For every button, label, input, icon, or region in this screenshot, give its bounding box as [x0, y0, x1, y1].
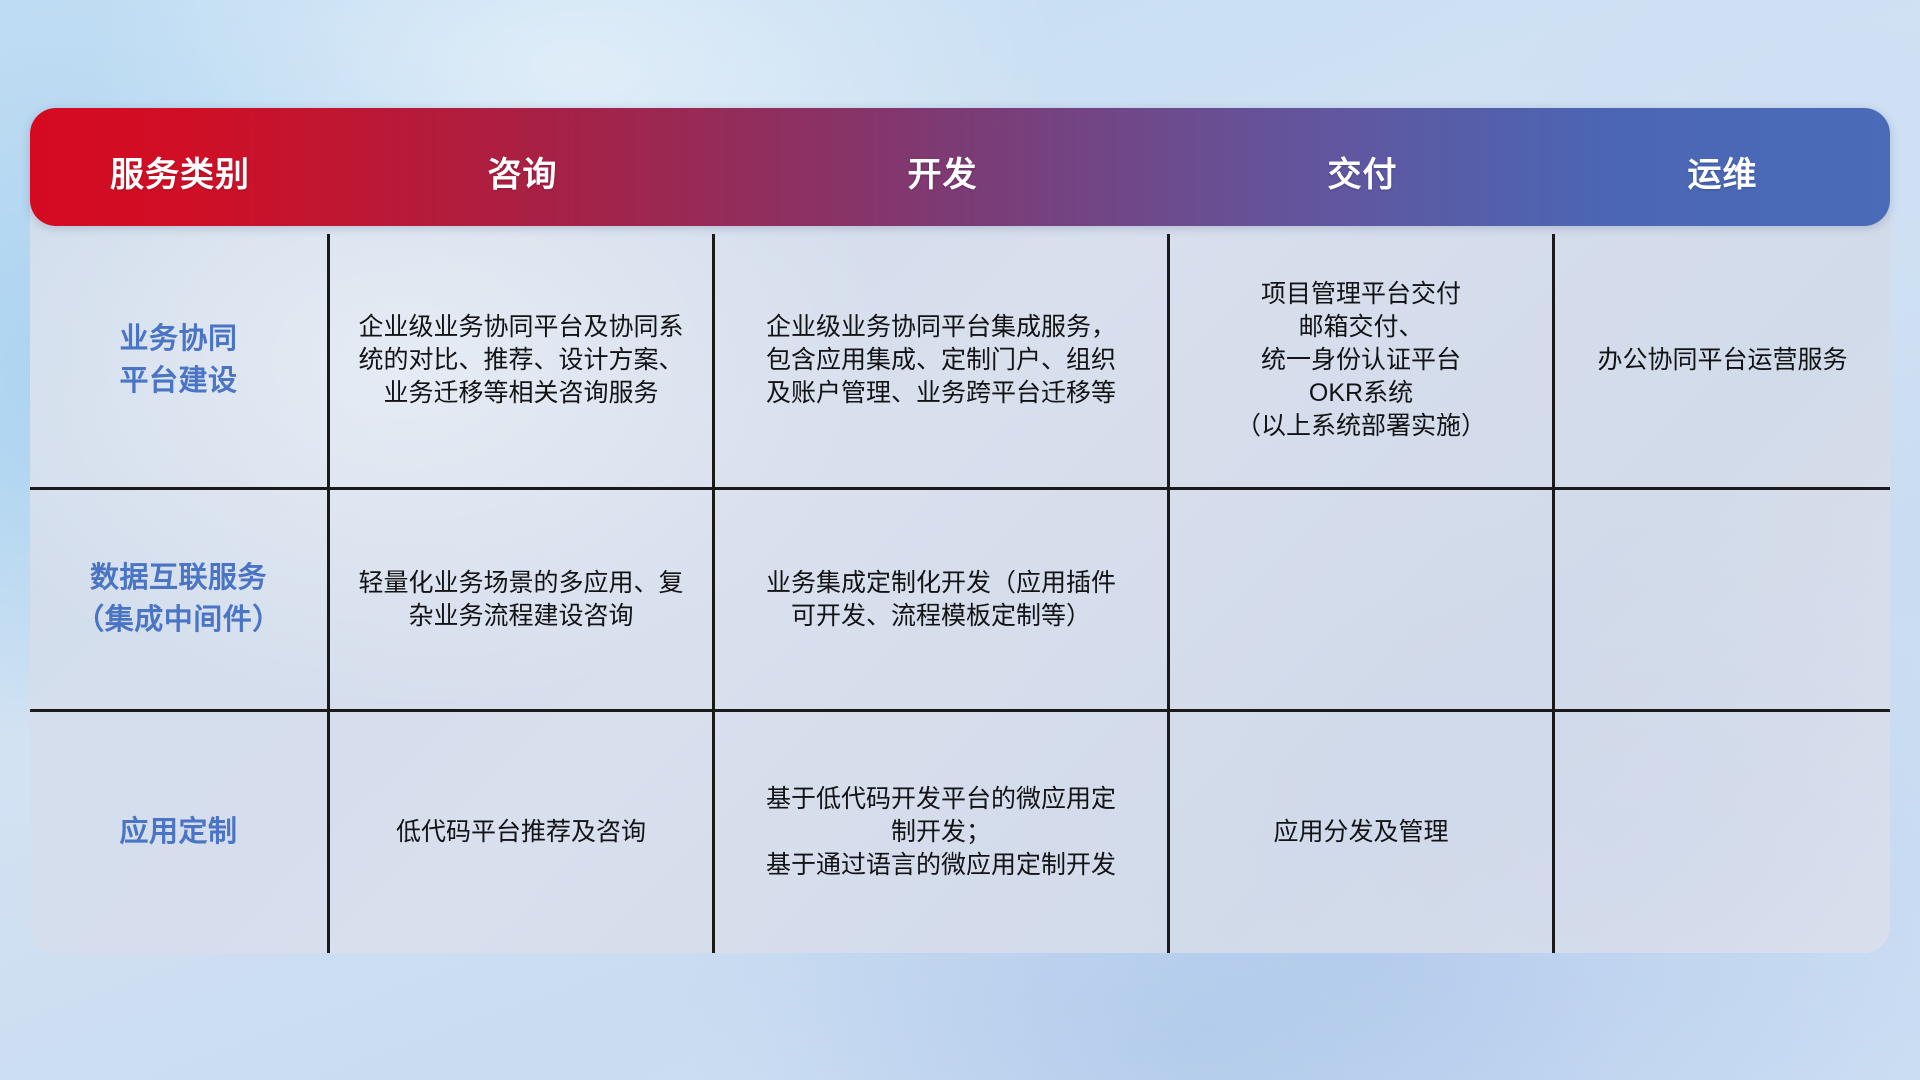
cell-text: 低代码平台推荐及咨询 [396, 816, 646, 849]
table-row: 应用定制低代码平台推荐及咨询基于低代码开发平台的微应用定 制开发； 基于通过语言… [30, 712, 1890, 953]
cell-text: 项目管理平台交付 邮箱交付、 统一身份认证平台 OKR系统 （以上系统部署实施） [1236, 278, 1486, 443]
cell-text: 轻量化业务场景的多应用、复 杂业务流程建设咨询 [358, 567, 683, 633]
cell-development-row1: 企业级业务协同平台集成服务， 包含应用集成、定制门户、组织 及账户管理、业务跨平… [715, 234, 1170, 487]
cell-text: 基于低代码开发平台的微应用定 制开发； 基于通过语言的微应用定制开发 [766, 783, 1116, 882]
table-body: 业务协同 平台建设企业级业务协同平台及协同系 统的对比、推荐、设计方案、 业务迁… [30, 234, 1890, 953]
service-matrix-table: 服务类别咨询开发交付运维 业务协同 平台建设企业级业务协同平台及协同系 统的对比… [30, 108, 1890, 953]
cell-operations-row3 [1555, 712, 1890, 953]
cell-category-row3: 应用定制 [30, 712, 330, 953]
table-header-row: 服务类别咨询开发交付运维 [30, 108, 1890, 226]
cell-text: 企业级业务协同平台集成服务， 包含应用集成、定制门户、组织 及账户管理、业务跨平… [766, 311, 1116, 410]
cell-text: 应用分发及管理 [1273, 816, 1448, 849]
cell-delivery-row3: 应用分发及管理 [1170, 712, 1555, 953]
column-header-operations: 运维 [1555, 108, 1890, 226]
cell-category-row2: 数据互联服务 （集成中间件） [30, 490, 330, 709]
cell-text: 办公协同平台运营服务 [1597, 344, 1847, 377]
column-header-consulting: 咨询 [330, 108, 715, 226]
cell-consulting-row2: 轻量化业务场景的多应用、复 杂业务流程建设咨询 [330, 490, 715, 709]
cell-development-row2: 业务集成定制化开发（应用插件 可开发、流程模板定制等） [715, 490, 1170, 709]
cell-delivery-row1: 项目管理平台交付 邮箱交付、 统一身份认证平台 OKR系统 （以上系统部署实施） [1170, 234, 1555, 487]
cell-text: 业务集成定制化开发（应用插件 可开发、流程模板定制等） [766, 567, 1116, 633]
cell-development-row3: 基于低代码开发平台的微应用定 制开发； 基于通过语言的微应用定制开发 [715, 712, 1170, 953]
column-header-development: 开发 [715, 108, 1170, 226]
cell-consulting-row1: 企业级业务协同平台及协同系 统的对比、推荐、设计方案、 业务迁移等相关咨询服务 [330, 234, 715, 487]
cell-delivery-row2 [1170, 490, 1555, 709]
cell-consulting-row3: 低代码平台推荐及咨询 [330, 712, 715, 953]
cell-text: 业务协同 平台建设 [119, 319, 237, 401]
cell-operations-row1: 办公协同平台运营服务 [1555, 234, 1890, 487]
cell-text: 企业级业务协同平台及协同系 统的对比、推荐、设计方案、 业务迁移等相关咨询服务 [358, 311, 683, 410]
cell-category-row1: 业务协同 平台建设 [30, 234, 330, 487]
table-row: 业务协同 平台建设企业级业务协同平台及协同系 统的对比、推荐、设计方案、 业务迁… [30, 234, 1890, 490]
cell-text: 应用定制 [119, 812, 237, 853]
table-row: 数据互联服务 （集成中间件）轻量化业务场景的多应用、复 杂业务流程建设咨询业务集… [30, 490, 1890, 712]
column-header-category: 服务类别 [30, 108, 330, 226]
column-header-delivery: 交付 [1170, 108, 1555, 226]
cell-operations-row2 [1555, 490, 1890, 709]
cell-text: 数据互联服务 （集成中间件） [75, 558, 282, 640]
